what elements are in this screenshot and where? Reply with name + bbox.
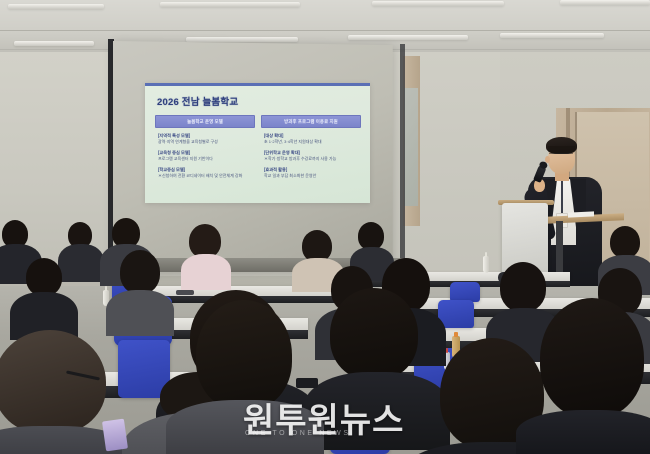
presentation-slide: 2026 전남 늘봄학교 늘봄학교 운영 모델 [지역적 특성 모델] 광역·지… — [145, 83, 370, 203]
smartphone[interactable] — [102, 419, 128, 452]
glasses-icon — [549, 153, 573, 158]
head — [26, 258, 62, 296]
phone-on-desk — [176, 290, 194, 295]
smartphone[interactable] — [296, 378, 318, 388]
bullet-block: [교육청 중심 모델] 프로그램 교육센터 지원 기반이다 — [158, 150, 253, 161]
bullet-text: ＊학기·방학교 방과후 수강료까지 사용 가능 — [264, 156, 359, 161]
glass-panel — [404, 88, 418, 206]
head — [500, 262, 546, 312]
head — [189, 224, 221, 258]
ceiling-light — [560, 0, 650, 5]
bullet-text: 광역·지역 연계형을 교육청별로 구성 — [158, 139, 253, 144]
shoulders — [58, 244, 104, 282]
slide-columns: 늘봄학교 운영 모델 [지역적 특성 모델] 광역·지역 연계형을 교육청별로 … — [155, 115, 361, 195]
bullet-text: 초 1·2학년, 3·4학년 지원대상 확대 — [264, 139, 359, 144]
ceiling-light — [8, 4, 104, 9]
bullet-block: [단위학교 운영 확대] ＊학기·방학교 방과후 수강료까지 사용 가능 — [264, 150, 359, 161]
shoulders — [106, 290, 174, 336]
head — [358, 222, 384, 250]
head — [330, 288, 418, 380]
water-bottle — [483, 256, 489, 273]
chair[interactable] — [450, 282, 480, 302]
bullet-heading: [대상 확대] — [264, 133, 359, 138]
head — [540, 298, 644, 418]
screen-frame-right — [400, 44, 405, 269]
bullet-text: 프로그램 교육센터 지원 기반이다 — [158, 156, 253, 161]
bullet-text: 학교 일과 부담 최소화한 운영안 — [264, 173, 359, 178]
photo-scene: 2026 전남 늘봄학교 늘봄학교 운영 모델 [지역적 특성 모델] 광역·지… — [0, 0, 650, 454]
slide-column-left: 늘봄학교 운영 모델 [지역적 특성 모델] 광역·지역 연계형을 교육청별로 … — [155, 115, 255, 195]
bullet-heading: [효과적 활용] — [264, 167, 359, 172]
slide-column-right: 방과후 프로그램 이용료 지원 [대상 확대] 초 1·2학년, 3·4학년 지… — [261, 115, 361, 195]
ceiling-light — [14, 41, 94, 46]
bullet-block: [학교중심 모델] ＊신청하여 전환 코디네이터 배치 및 안전체계 강화 — [158, 167, 253, 178]
ceiling-light — [500, 33, 604, 38]
bullet-heading: [단위학교 운영 확대] — [264, 150, 359, 155]
column-body: [대상 확대] 초 1·2학년, 3·4학년 지원대상 확대 [단위학교 운영 … — [261, 128, 361, 178]
bullet-heading: [교육청 중심 모델] — [158, 150, 253, 155]
bullet-heading: [지역적 특성 모델] — [158, 133, 253, 138]
ceiling-light — [186, 37, 298, 42]
slide-title: 2026 전남 늘봄학교 — [157, 94, 238, 108]
slide-accent-bar — [145, 83, 370, 86]
head — [196, 300, 292, 410]
head — [0, 330, 106, 434]
bullet-block: [지역적 특성 모델] 광역·지역 연계형을 교육청별로 구성 — [158, 133, 253, 144]
lanyard-strap — [561, 181, 563, 215]
table-leg — [556, 221, 563, 273]
column-body: [지역적 특성 모델] 광역·지역 연계형을 교육청별로 구성 [교육청 중심 … — [155, 128, 255, 178]
bullet-block: [대상 확대] 초 1·2학년, 3·4학년 지원대상 확대 — [264, 133, 359, 144]
presenter-hair — [546, 137, 577, 154]
bullet-text: ＊신청하여 전환 코디네이터 배치 및 안전체계 강화 — [158, 173, 253, 178]
head — [610, 226, 640, 258]
column-header: 방과후 프로그램 이용료 지원 — [261, 115, 361, 128]
shoulders — [181, 254, 231, 290]
ceiling-light — [372, 1, 504, 6]
head — [120, 250, 160, 294]
shoulders — [516, 410, 650, 454]
column-header: 늘봄학교 운영 모델 — [155, 115, 255, 128]
column-header-label: 늘봄학교 운영 모델 — [187, 119, 223, 125]
ceiling-light — [160, 2, 300, 7]
bullet-heading: [학교중심 모델] — [158, 167, 253, 172]
bullet-block: [효과적 활용] 학교 일과 부담 최소화한 운영안 — [264, 167, 359, 178]
column-header-label: 방과후 프로그램 이용료 지원 — [284, 119, 338, 125]
shoulders — [304, 372, 450, 450]
ceiling-light — [348, 35, 468, 40]
ceiling-seam — [0, 30, 650, 31]
shoulders — [166, 400, 324, 454]
